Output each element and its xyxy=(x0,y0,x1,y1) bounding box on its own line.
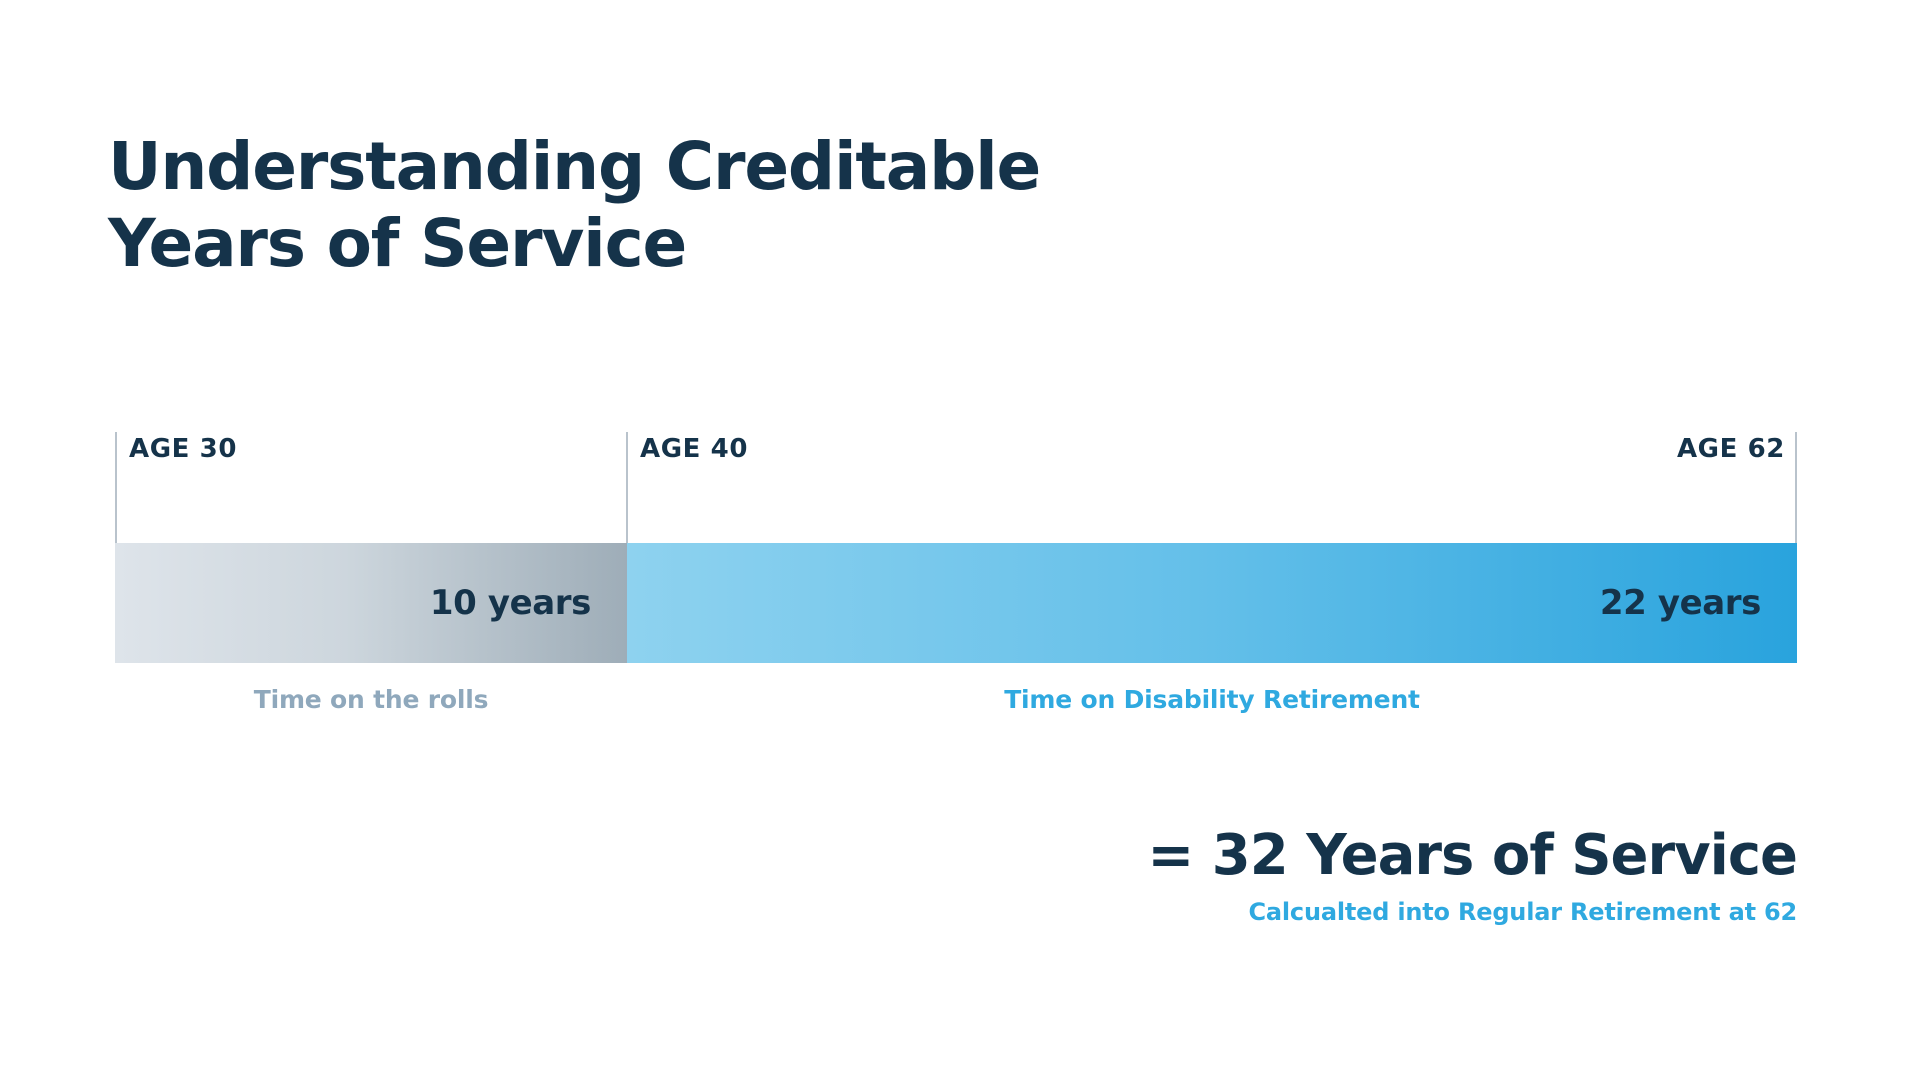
bar-captions: Time on the rolls Time on Disability Ret… xyxy=(115,663,1797,723)
axis-tick-age-40 xyxy=(626,432,628,543)
summary-note: Calcualted into Regular Retirement at 62 xyxy=(1147,898,1797,926)
summary-total-years: = 32 Years of Service xyxy=(1147,826,1797,886)
summary-block: = 32 Years of Service Calcualted into Re… xyxy=(1147,826,1797,926)
title-line-2: Years of Service xyxy=(108,205,1308,282)
axis-label-age-40: AGE 40 xyxy=(640,434,748,464)
timeline-axis: AGE 30 AGE 40 AGE 62 xyxy=(115,432,1797,543)
stacked-timeline-bar: 10 years 22 years xyxy=(115,543,1797,663)
axis-tick-age-62 xyxy=(1795,432,1797,543)
caption-time-on-rolls: Time on the rolls xyxy=(115,685,627,714)
title-line-1: Understanding Creditable xyxy=(108,128,1308,205)
bar-segment-disability-value: 22 years xyxy=(1600,583,1797,623)
page-title: Understanding Creditable Years of Servic… xyxy=(108,128,1308,282)
years-of-service-chart: AGE 30 AGE 40 AGE 62 10 years 22 years T… xyxy=(115,432,1797,723)
infographic-canvas: Understanding Creditable Years of Servic… xyxy=(0,0,1920,1080)
bar-segment-time-on-rolls: 10 years xyxy=(115,543,627,663)
caption-time-on-disability-retirement: Time on Disability Retirement xyxy=(627,685,1797,714)
axis-tick-age-30 xyxy=(115,432,117,543)
bar-segment-disability-retirement: 22 years xyxy=(627,543,1797,663)
bar-segment-rolls-value: 10 years xyxy=(430,583,627,623)
axis-label-age-62: AGE 62 xyxy=(1677,434,1785,464)
axis-label-age-30: AGE 30 xyxy=(129,434,237,464)
